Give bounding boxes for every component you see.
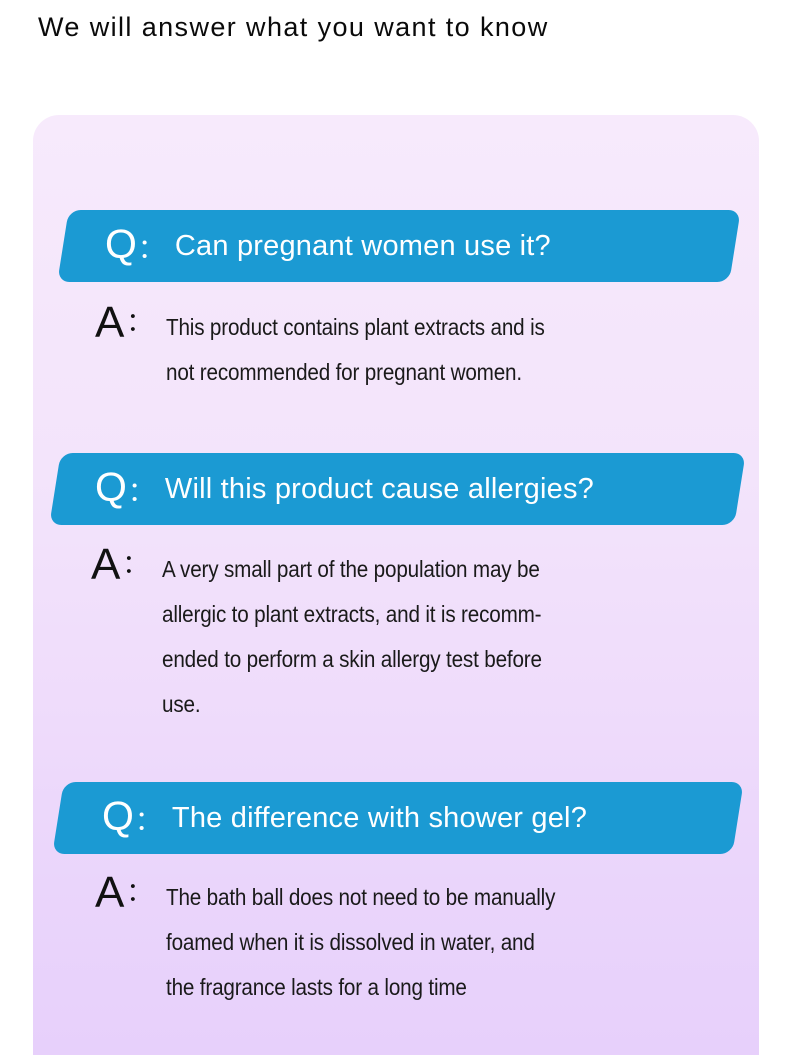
question-banner[interactable]: Q ： Can pregnant women use it? (57, 210, 740, 282)
answer-block: A ： The bath ball does not need to be ma… (95, 871, 735, 1006)
answer-prefix-label: A (95, 301, 124, 345)
question-text: Will this product cause allergies? (165, 473, 594, 506)
question-banner[interactable]: Q ： Will this product cause allergies? (49, 453, 745, 525)
question-prefix-label: Q (105, 224, 137, 265)
question-banner-content: Q ： Will this product cause allergies? (55, 453, 759, 525)
question-banner[interactable]: Q ： The difference with shower gel? (52, 782, 743, 854)
question-banner-content: Q ： The difference with shower gel? (58, 782, 759, 854)
question-colon: ： (128, 470, 155, 509)
question-text: The difference with shower gel? (172, 802, 587, 835)
answer-prefix: A ： (91, 543, 148, 587)
question-text: Can pregnant women use it? (175, 230, 551, 263)
answer-block: A ： A very small part of the population … (91, 543, 731, 723)
page-title: We will answer what you want to know (38, 11, 549, 45)
question-prefix-label: Q (95, 467, 127, 508)
answer-colon: ： (122, 544, 148, 581)
faq-list: Q ： Can pregnant women use it? A ： This … (33, 115, 759, 1055)
faq-card: Q ： Can pregnant women use it? A ： This … (33, 115, 759, 1055)
question-prefix-label: Q (102, 796, 134, 837)
answer-prefix-label: A (95, 871, 124, 915)
question-banner-content: Q ： Can pregnant women use it? (63, 210, 759, 282)
answer-text: The bath ball does not need to be manual… (166, 875, 555, 1010)
question-colon: ： (138, 227, 165, 266)
answer-block: A ： This product contains plant extracts… (95, 301, 735, 391)
answer-prefix-label: A (91, 543, 120, 587)
answer-colon: ： (126, 302, 152, 339)
answer-text: This product contains plant extracts and… (166, 305, 545, 395)
answer-colon: ： (126, 872, 152, 909)
answer-text: A very small part of the population may … (162, 547, 542, 727)
answer-prefix: A ： (95, 301, 152, 345)
answer-prefix: A ： (95, 871, 152, 915)
question-colon: ： (135, 799, 162, 838)
